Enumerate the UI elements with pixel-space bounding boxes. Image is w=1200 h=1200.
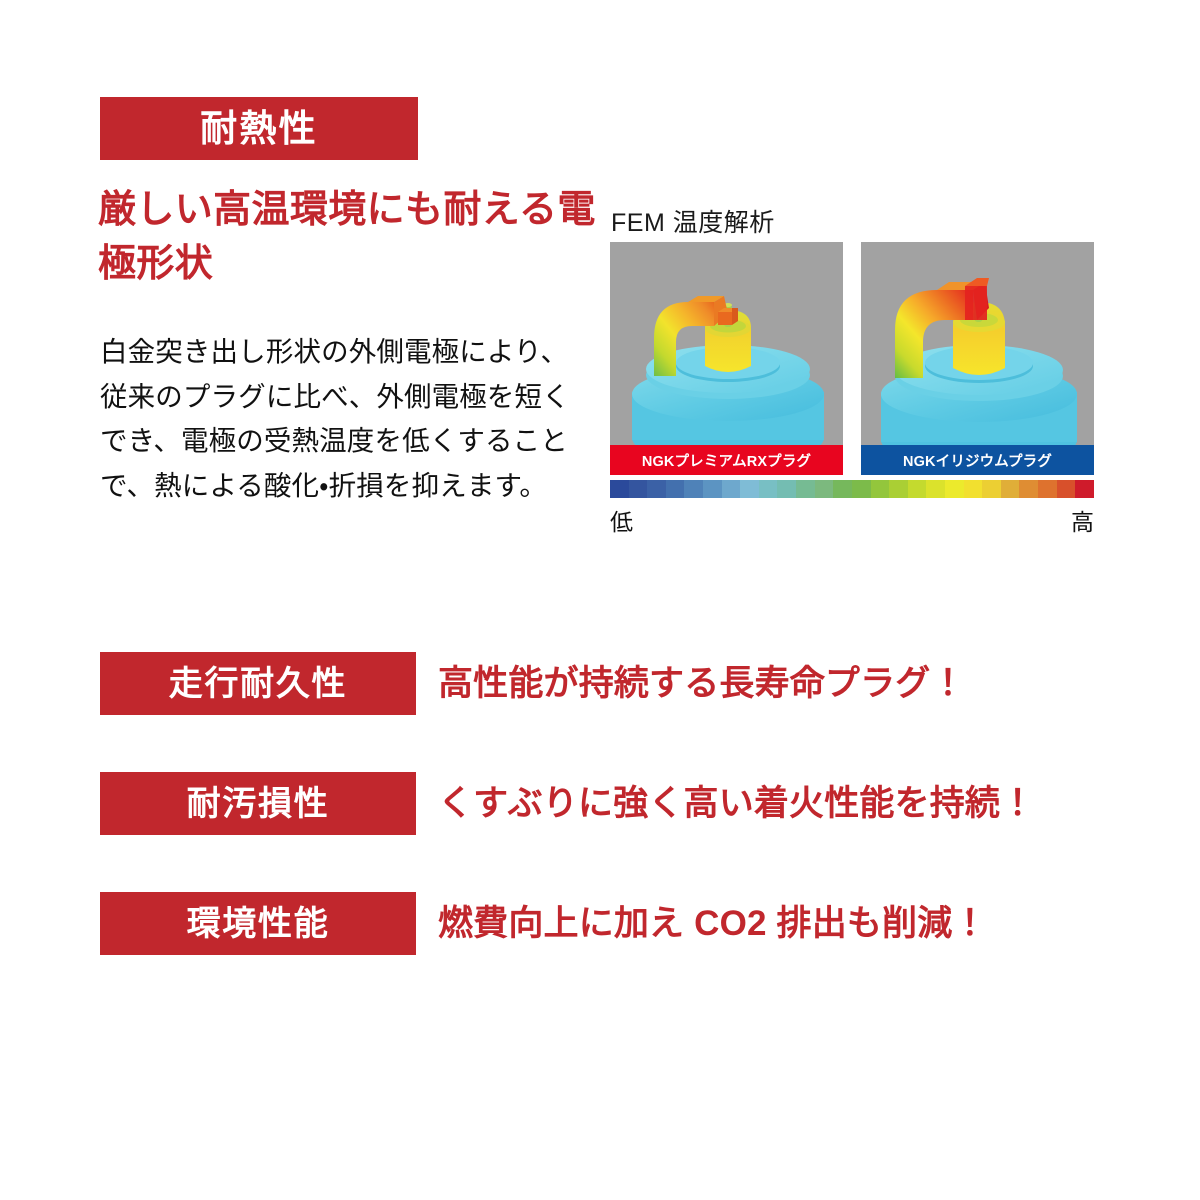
fem-caption-iridium: NGKイリジウムプラグ (861, 445, 1094, 475)
scale-swatch-19 (964, 480, 983, 498)
fem-card-iridium: NGKイリジウムプラグ (861, 242, 1094, 475)
feature-caption-environmental: 燃費向上に加え CO2 排出も削減！ (438, 906, 988, 941)
fem-thermal-render-iridium (861, 242, 1094, 475)
fem-card-premium-rx: NGKプレミアムRXプラグ (610, 242, 843, 475)
scale-swatch-10 (796, 480, 815, 498)
scale-swatch-24 (1057, 480, 1076, 498)
feature-badge-label: 耐汚損性 (187, 787, 330, 821)
scale-swatch-15 (889, 480, 908, 498)
scale-swatch-22 (1019, 480, 1038, 498)
scale-swatch-14 (871, 480, 890, 498)
spark-plug-thermal-diagram-iridium (861, 242, 1094, 475)
scale-label-low: 低 (610, 503, 633, 537)
scale-swatch-2 (647, 480, 666, 498)
fem-thermal-render-premium-rx (610, 242, 843, 475)
scale-swatch-21 (1001, 480, 1020, 498)
scale-label-high: 高 (1071, 503, 1094, 537)
fem-caption-premium-rx: NGKプレミアムRXプラグ (610, 445, 843, 475)
fem-section-title: FEM 温度解析 (611, 203, 775, 239)
fem-image-group: NGKプレミアムRXプラグ (610, 242, 1094, 475)
feature-badge-label: 走行耐久性 (169, 667, 348, 701)
scale-swatch-5 (703, 480, 722, 498)
feature-caption-fouling-resistance: くすぶりに強く高い着火性能を持続！ (438, 786, 1035, 821)
temperature-color-scale (610, 480, 1094, 498)
feature-row-fouling-resistance: 耐汚損性 くすぶりに強く高い着火性能を持続！ (100, 772, 1030, 835)
scale-swatch-1 (629, 480, 648, 498)
feature-caption-durability: 高性能が持続する長寿命プラグ！ (438, 666, 966, 701)
spark-plug-thermal-diagram-rx (610, 242, 843, 475)
scale-swatch-18 (945, 480, 964, 498)
scale-swatch-11 (815, 480, 834, 498)
scale-swatch-16 (908, 480, 927, 498)
feature-badge-fouling-resistance: 耐汚損性 (100, 772, 416, 835)
scale-swatch-23 (1038, 480, 1057, 498)
scale-swatch-6 (722, 480, 741, 498)
scale-swatch-0 (610, 480, 629, 498)
scale-swatch-7 (740, 480, 759, 498)
scale-swatch-20 (982, 480, 1001, 498)
feature-badge-environmental: 環境性能 (100, 892, 416, 955)
scale-swatch-3 (666, 480, 685, 498)
scale-swatch-13 (852, 480, 871, 498)
scale-swatch-17 (926, 480, 945, 498)
feature-badge-label: 環境性能 (187, 907, 330, 941)
scale-swatch-25 (1075, 480, 1094, 498)
section-tag-heat-resistance: 耐熱性 (100, 97, 418, 160)
scale-swatch-4 (684, 480, 703, 498)
scale-swatch-9 (777, 480, 796, 498)
feature-badge-durability: 走行耐久性 (100, 652, 416, 715)
feature-row-durability: 走行耐久性 高性能が持続する長寿命プラグ！ (100, 652, 1030, 715)
heat-headline: 厳しい高温環境にも耐える電極形状 (98, 184, 598, 292)
section-tag-label: 耐熱性 (200, 110, 318, 147)
feature-row-environmental: 環境性能 燃費向上に加え CO2 排出も削減！ (100, 892, 1030, 955)
scale-swatch-12 (833, 480, 852, 498)
temperature-scale-labels: 低 高 (610, 503, 1094, 537)
heat-body-text: 白金突き出し形状の外側電極により、従来のプラグに比べ、外側電極を短くでき、電極の… (100, 330, 578, 508)
scale-swatch-8 (759, 480, 778, 498)
